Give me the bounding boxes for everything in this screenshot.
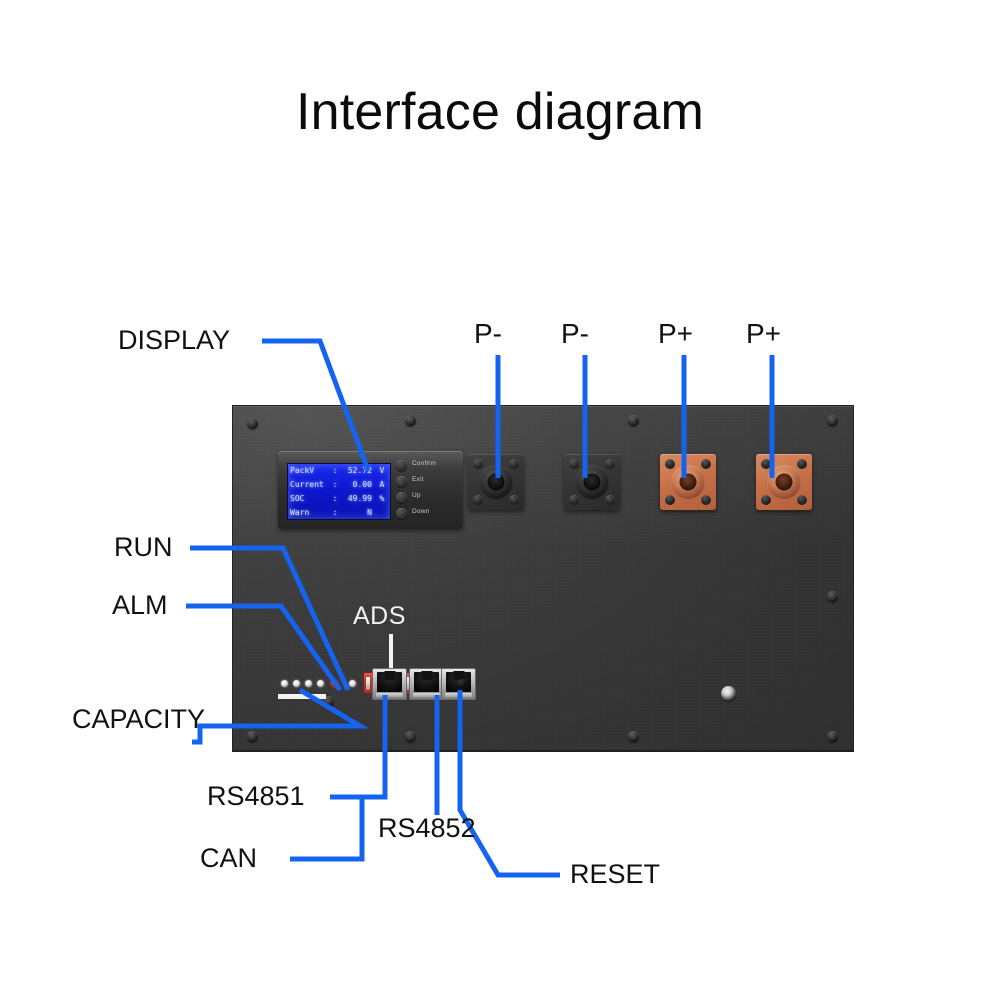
lcd-row: Current : 0.00 A — [288, 478, 390, 492]
terminal-screw — [665, 459, 675, 469]
capacity-led — [305, 680, 312, 687]
label-display: DISPLAY — [118, 327, 230, 354]
rj45-port-rs4851[interactable] — [372, 668, 407, 700]
up-button-dot — [396, 492, 407, 503]
label-can: CAN — [200, 845, 257, 872]
exit-button-dot — [396, 476, 407, 487]
terminal-screw — [761, 459, 771, 469]
lcd-unit: A — [374, 478, 390, 492]
lcd-row: PackV : 52.72 V — [288, 464, 390, 478]
capacity-led-group — [281, 680, 323, 688]
label-rs4852: RS4852 — [378, 815, 476, 842]
panel-screw — [405, 415, 416, 426]
lcd-key: Warn — [288, 505, 331, 519]
lcd-value: 52.72 — [339, 464, 373, 478]
label-p-minus-1: P- — [474, 320, 502, 348]
panel-grommet — [721, 686, 736, 701]
exit-button[interactable]: Exit — [396, 475, 458, 490]
terminal-screw — [797, 459, 807, 469]
terminal-screw — [605, 495, 615, 505]
capacity-led — [293, 680, 300, 687]
terminal-bore — [776, 474, 793, 491]
terminal-screw — [701, 459, 711, 469]
terminal-ring — [479, 465, 513, 499]
alm-led — [331, 680, 338, 687]
battery-front-panel: PackV : 52.72 V Current : 0.00 A SOC : — [232, 405, 854, 752]
label-rs4851: RS4851 — [207, 783, 305, 810]
terminal-p-plus-1[interactable] — [660, 454, 716, 510]
up-button[interactable]: Up — [396, 491, 458, 506]
terminal-screw — [473, 495, 483, 505]
terminal-screw — [605, 459, 615, 469]
down-button-dot — [396, 508, 407, 519]
rj45-lip — [445, 693, 472, 697]
lcd-unit: % — [374, 492, 390, 506]
terminal-bore — [488, 474, 505, 491]
terminal-screw — [509, 459, 519, 469]
lcd-row: Warn : N — [288, 505, 390, 519]
interface-diagram: Interface diagram PackV : 52.72 V — [0, 0, 1000, 1000]
down-button-label: Down — [412, 508, 429, 515]
label-p-plus-2: P+ — [746, 320, 781, 348]
label-p-plus-1: P+ — [658, 320, 693, 348]
rj45-port-can[interactable] — [409, 668, 444, 700]
lcd-key: SOC — [288, 492, 331, 506]
lcd-value: 0.00 — [339, 478, 373, 492]
reset-button-hole[interactable] — [457, 679, 466, 688]
terminal-p-plus-2[interactable] — [756, 454, 812, 510]
lcd-unit: V — [374, 464, 390, 478]
page-title: Interface diagram — [0, 82, 1000, 142]
label-p-minus-2: P- — [561, 320, 589, 348]
panel-screw — [405, 731, 416, 742]
lcd-sep: : — [331, 505, 340, 519]
terminal-ring — [575, 465, 609, 499]
label-run: RUN — [114, 534, 173, 561]
lcd-row: SOC : 49.99 % — [288, 492, 390, 506]
panel-screw — [628, 731, 639, 742]
terminal-screw — [569, 495, 579, 505]
capacity-underline — [278, 694, 326, 699]
terminal-screw — [761, 495, 771, 505]
terminal-bore — [584, 474, 601, 491]
lcd-sep: : — [331, 478, 340, 492]
confirm-button-label: Confirm — [412, 460, 436, 467]
capacity-led — [281, 680, 288, 687]
rj45-tab — [384, 671, 395, 680]
terminal-screw — [473, 459, 483, 469]
lcd-key: PackV — [288, 464, 331, 478]
label-reset: RESET — [570, 861, 660, 888]
panel-screw — [827, 591, 838, 602]
exit-button-label: Exit — [412, 476, 424, 483]
panel-screw — [827, 731, 838, 742]
ads-leader-stem — [389, 634, 393, 670]
up-button-label: Up — [412, 492, 421, 499]
dip-switch-lever[interactable] — [366, 677, 370, 690]
terminal-screw — [797, 495, 807, 505]
terminal-screw — [701, 495, 711, 505]
lcd-unit — [374, 505, 390, 519]
lcd-screen: PackV : 52.72 V Current : 0.00 A SOC : — [287, 463, 391, 520]
ads-panel-label: ADS — [353, 602, 406, 631]
label-capacity: CAPACITY — [72, 706, 205, 733]
panel-screw — [247, 418, 258, 429]
terminal-bore — [680, 474, 697, 491]
down-button[interactable]: Down — [396, 507, 458, 522]
run-led — [349, 680, 356, 687]
rj45-lip — [413, 693, 440, 697]
capacity-led — [317, 680, 324, 687]
confirm-button-dot — [396, 460, 407, 471]
rj45-tab — [421, 671, 432, 680]
confirm-button[interactable]: Confirm — [396, 459, 458, 474]
display-module[interactable]: PackV : 52.72 V Current : 0.00 A SOC : — [278, 451, 463, 529]
terminal-ring — [671, 465, 705, 499]
terminal-ring — [767, 465, 801, 499]
label-alm: ALM — [112, 592, 168, 619]
terminal-p-minus-1[interactable] — [468, 454, 524, 510]
panel-screw — [247, 731, 258, 742]
terminal-p-minus-2[interactable] — [564, 454, 620, 510]
lcd-sep: : — [331, 464, 340, 478]
lcd-sep: : — [331, 492, 340, 506]
rj45-lip — [376, 693, 403, 697]
panel-screw — [628, 415, 639, 426]
lcd-value: N — [339, 505, 373, 519]
lcd-readout-table: PackV : 52.72 V Current : 0.00 A SOC : — [288, 464, 390, 519]
terminal-screw — [509, 495, 519, 505]
display-button-column: Confirm Exit Up Down — [396, 459, 458, 523]
terminal-screw — [665, 495, 675, 505]
terminal-screw — [569, 459, 579, 469]
lcd-key: Current — [288, 478, 331, 492]
lcd-value: 49.99 — [339, 492, 373, 506]
panel-screw — [827, 415, 838, 426]
